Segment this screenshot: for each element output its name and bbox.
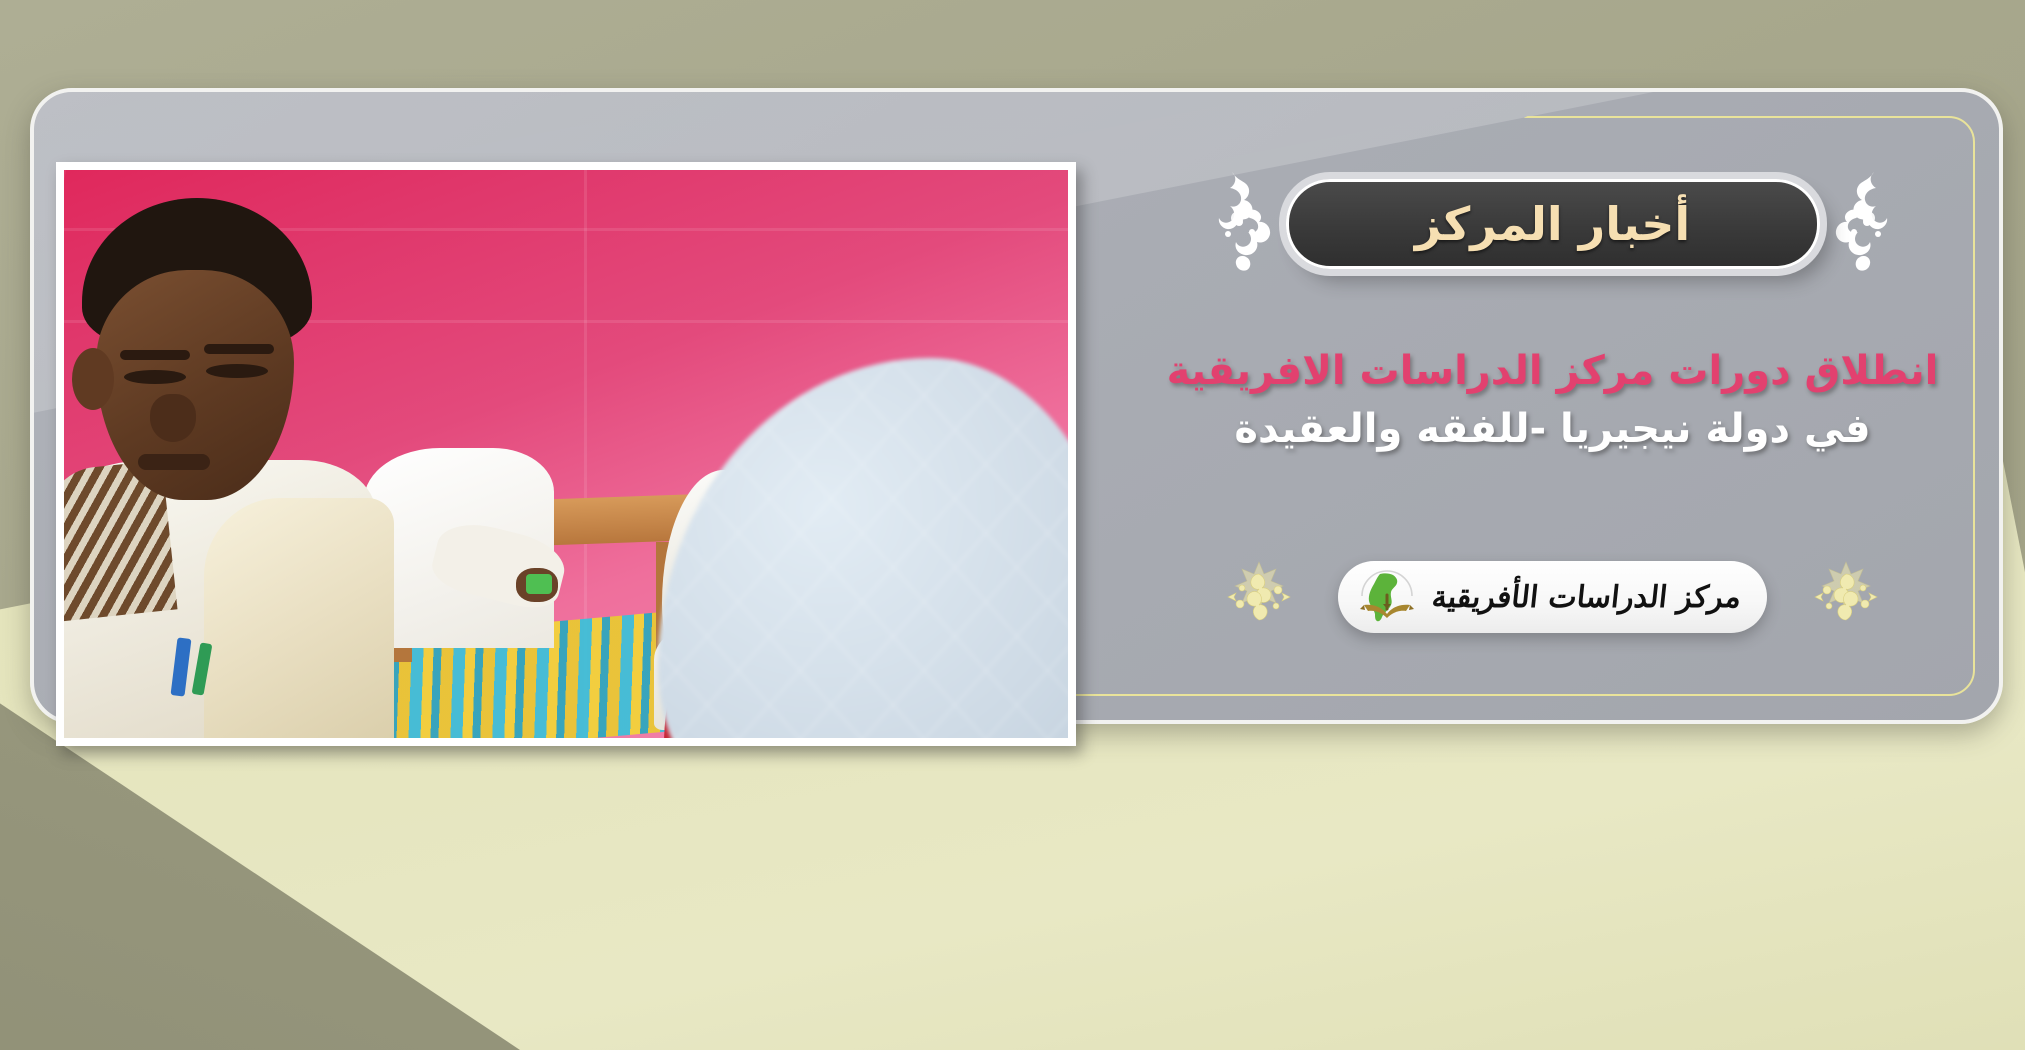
title-row: أخبار المركز (1110, 168, 1995, 280)
mouth (138, 454, 210, 470)
news-photo (64, 170, 1068, 738)
floral-flourish-icon (1208, 168, 1272, 280)
nose (150, 394, 196, 442)
ear (72, 348, 114, 410)
headline-line-1: انطلاق دورات مركز الدراسات الافريقية (1110, 346, 1995, 396)
center-wordmark: مركز الدراسات الأفريقية (1430, 580, 1743, 615)
foreground-young-man (64, 198, 384, 738)
africa-map-book-pen-logo-icon (1356, 568, 1418, 626)
logo-row: مركز الدراسات الأفريقية (1110, 558, 1995, 636)
shawl (204, 498, 394, 738)
news-title-label: أخبار المركز (1415, 201, 1690, 247)
news-photo-frame (56, 162, 1076, 746)
eyebrow (204, 344, 274, 354)
floral-flourish-icon (1834, 168, 1898, 280)
held-object (526, 574, 552, 594)
banner-right-column: أخبار المركز انطلاق دورات مركز الدراسات … (1110, 88, 1995, 716)
eye-closed (124, 370, 186, 384)
center-logo[interactable]: مركز الدراسات الأفريقية (1338, 561, 1767, 633)
headline-line-2: في دولة نيجيريا -للفقه والعقيدة (1110, 402, 1995, 456)
gold-filigree-ornament-icon (1220, 558, 1298, 636)
headline-block: انطلاق دورات مركز الدراسات الافريقية في … (1110, 346, 1995, 456)
gold-filigree-ornament-icon (1807, 558, 1885, 636)
news-title-badge[interactable]: أخبار المركز (1286, 179, 1820, 269)
eye-closed (206, 364, 268, 378)
eyebrow (120, 350, 190, 360)
